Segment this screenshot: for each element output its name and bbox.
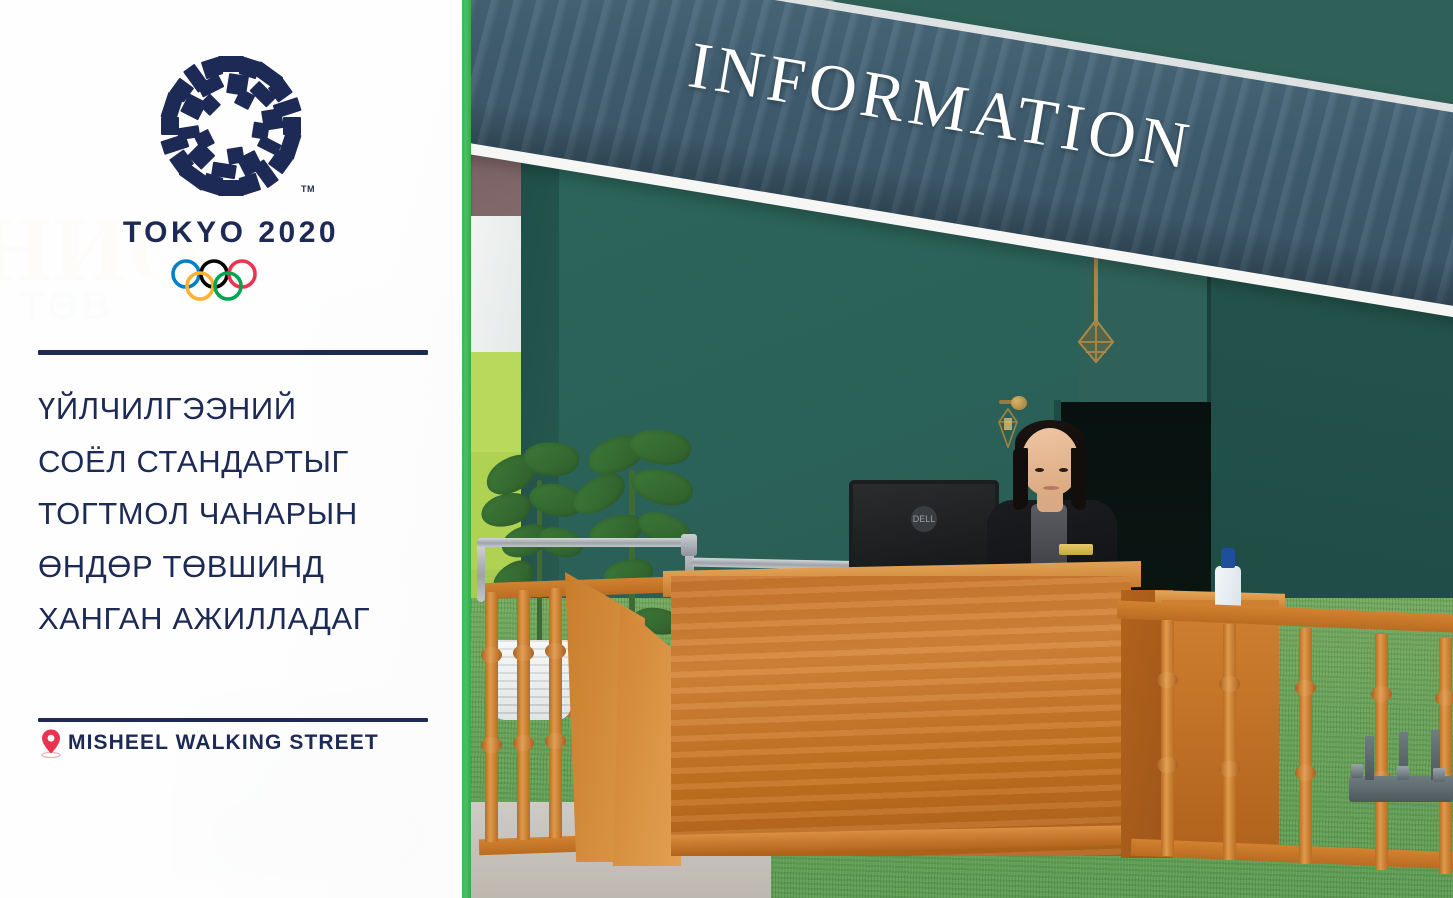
location-label: MISHEEL WALKING STREET [68, 731, 379, 755]
hand-sanitizer-pump [1221, 548, 1235, 568]
bolt-2 [1397, 766, 1409, 780]
map-pin-icon [38, 728, 64, 758]
olympic-rings-icon [170, 258, 292, 304]
desktop-monitor: DELL [849, 480, 999, 576]
reception-desk-front [671, 576, 1131, 856]
baluster-r2 [1223, 624, 1236, 860]
pendant-lamp-icon [1073, 318, 1119, 364]
divider-rule-top [38, 350, 428, 355]
headline-line-4: ӨНДӨР ТӨВШИНД [38, 541, 438, 594]
receptionist-mouth [1043, 486, 1059, 490]
headline-line-1: ҮЙЛЧИЛГЭЭНИЙ [38, 383, 438, 436]
bolt-3 [1433, 768, 1445, 782]
information-desk-photo: Khan Bank [471, 0, 1453, 898]
headline-line-5: ХАНГАН АЖИЛЛАДАГ [38, 593, 438, 646]
divider-rule-bottom [38, 718, 428, 722]
green-divider-strip [462, 0, 471, 898]
desk-wood-grain [671, 576, 1131, 856]
tokyo-2020-wordmark: TOKYO 2020 [0, 216, 462, 250]
left-info-panel: НИО Н ТӨВ [0, 0, 462, 898]
baluster-r4 [1375, 634, 1388, 870]
metal-fin-1 [1365, 736, 1374, 780]
receptionist-eye-left [1035, 468, 1044, 472]
pipe-joint-1 [681, 534, 697, 556]
receptionist-hair-left [1013, 448, 1028, 510]
receptionist-hair-right [1071, 448, 1086, 510]
location-row: MISHEEL WALKING STREET [38, 728, 379, 758]
baluster-r1 [1161, 620, 1174, 856]
tokyo-2020-emblem-icon: TM [155, 50, 307, 202]
headline-line-2: СОЁЛ СТАНДАРТЫГ [38, 436, 438, 489]
pipe-bar-1 [477, 538, 693, 547]
baluster-r5 [1439, 638, 1452, 874]
pipe-post-1 [477, 542, 485, 602]
headline-block: ҮЙЛЧИЛГЭЭНИЙ СОЁЛ СТАНДАРТЫГ ТОГТМОЛ ЧАН… [38, 383, 438, 646]
receptionist-eye-right [1059, 468, 1068, 472]
reception-desk-wing [1161, 600, 1279, 850]
baluster-l2 [517, 590, 530, 840]
monitor-brand-logo: DELL [911, 506, 937, 532]
receptionist-name-badge [1059, 544, 1093, 555]
poster-root: НИО Н ТӨВ [0, 0, 1453, 898]
baluster-l1 [485, 592, 498, 842]
bolt-1 [1351, 764, 1363, 778]
trademark-mark: TM [301, 184, 315, 194]
tokyo2020-lockup: TM TOKYO 2020 [0, 50, 462, 304]
baluster-r3 [1299, 628, 1312, 864]
headline-line-3: ТОГТМОЛ ЧАНАРЫН [38, 488, 438, 541]
baluster-l3 [549, 588, 562, 838]
